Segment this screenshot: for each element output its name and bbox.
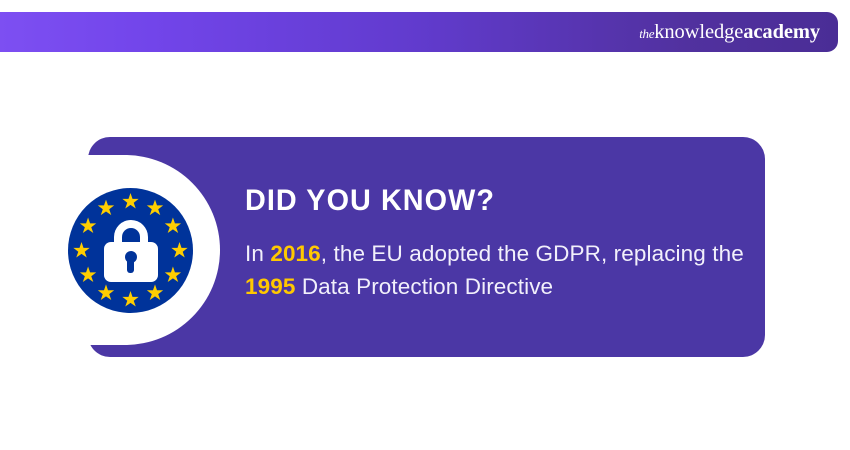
padlock-keyhole-stem	[127, 259, 134, 273]
logo-prefix-text: the	[639, 26, 654, 41]
fact-year-2016: 2016	[270, 241, 320, 266]
fact-year-1995: 1995	[245, 274, 295, 299]
padlock-icon	[104, 220, 158, 282]
padlock-body	[104, 242, 158, 282]
logo-main-text: knowledge	[654, 21, 743, 43]
fact-line2-suffix: Data Protection Directive	[295, 274, 553, 299]
logo-bold-text: academy	[743, 21, 820, 43]
brand-logo[interactable]: theknowledgeacademy	[639, 22, 820, 43]
fact-body-text: In 2016, the EU adopted the GDPR, replac…	[245, 216, 755, 303]
fact-line1-suffix: , the EU adopted the GDPR, replacing	[321, 241, 706, 266]
header-bar: theknowledgeacademy	[0, 12, 838, 52]
fact-line1-prefix: In	[245, 241, 270, 266]
page-title: DID YOU KNOW?	[245, 186, 735, 216]
card-text-block: DID YOU KNOW? In 2016, the EU adopted th…	[245, 186, 755, 303]
fact-line2-prefix: the	[712, 241, 744, 266]
eu-gdpr-lock-icon	[68, 188, 193, 313]
